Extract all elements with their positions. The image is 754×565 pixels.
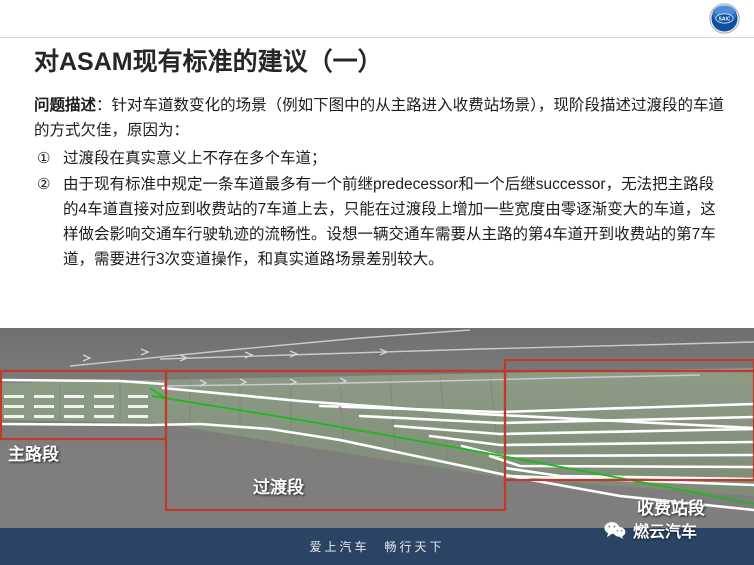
saic-logo-text: SAIC xyxy=(719,17,731,23)
figure-label-main-road: 主路段 xyxy=(8,440,59,465)
channel-watermark: 燃云汽车 xyxy=(604,518,697,542)
problem-description-text: ：针对车道数变化的场景（例如下图中的从主路进入收费站场景），现阶段描述过渡段的车… xyxy=(34,97,724,139)
list-item-text: 由于现有标准中规定一条车道最多有一个前继predecessor和一个后继succ… xyxy=(63,176,716,268)
list-item-text: 过渡段在真实意义上不存在多个车道； xyxy=(63,150,327,167)
figure-label-toll-station: 收费站段 xyxy=(637,494,705,519)
page-title: 对ASAM现有标准的建议（一） xyxy=(34,42,383,78)
slide-header-bar: SAIC xyxy=(0,0,754,38)
slide-body: 问题描述：针对车道数变化的场景（例如下图中的从主路进入收费站场景），现阶段描述过… xyxy=(34,93,724,273)
slide-canvas: SAIC 对ASAM现有标准的建议（一） 问题描述：针对车道数变化的场景（例如下… xyxy=(0,0,754,565)
problem-description-paragraph: 问题描述：针对车道数变化的场景（例如下图中的从主路进入收费站场景），现阶段描述过… xyxy=(34,93,724,143)
figure-label-transition: 过渡段 xyxy=(253,473,304,498)
list-item: ② 由于现有标准中规定一条车道最多有一个前继predecessor和一个后继su… xyxy=(34,172,724,272)
saic-logo: SAIC xyxy=(709,3,740,34)
list-item-marker: ① xyxy=(37,146,50,171)
problem-description-lead: 问题描述 xyxy=(34,97,96,114)
list-item: ① 过渡段在真实意义上不存在多个车道； xyxy=(34,146,724,171)
wechat-icon xyxy=(604,520,626,540)
reason-list: ① 过渡段在真实意义上不存在多个车道； ② 由于现有标准中规定一条车道最多有一个… xyxy=(34,146,724,272)
watermark-text: 燃云汽车 xyxy=(633,518,697,542)
list-item-marker: ② xyxy=(37,172,50,197)
